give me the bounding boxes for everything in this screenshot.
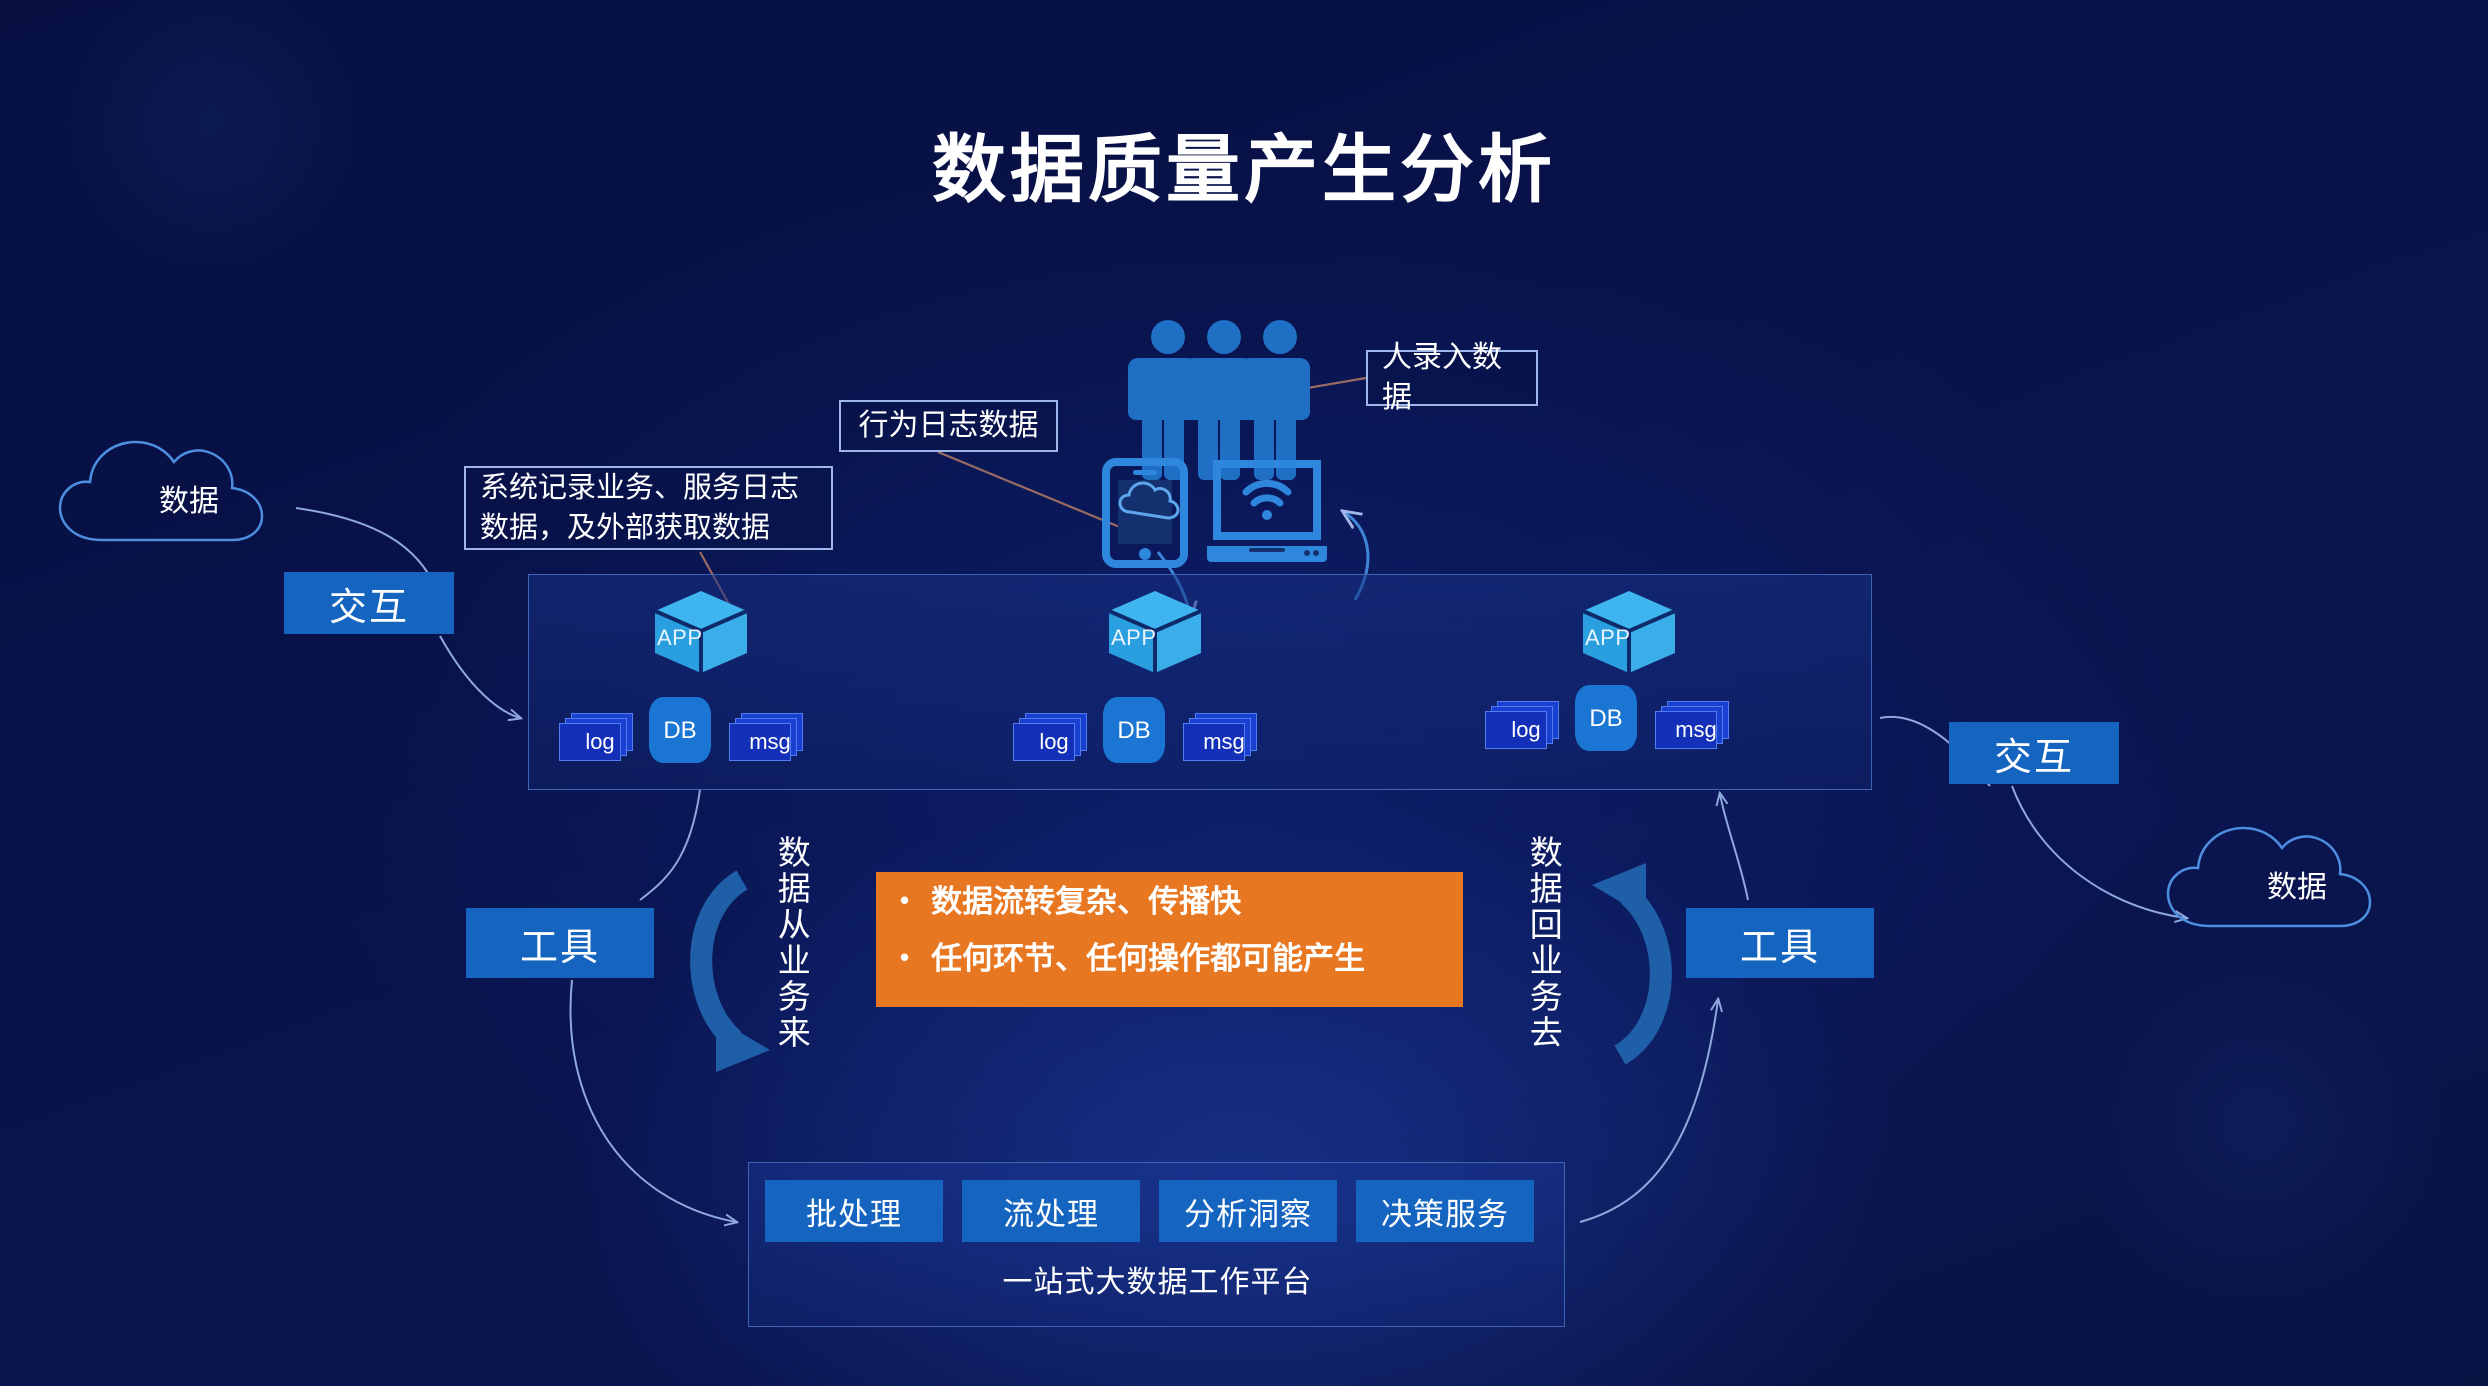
msg-label-3: msg: [1665, 717, 1727, 743]
flow-label-left: 数据从业务来: [770, 835, 812, 1125]
log-label-1: log: [569, 729, 631, 755]
badge-interact-left[interactable]: 交互: [284, 572, 454, 634]
systems-panel: APP log DB msg: [528, 574, 1872, 790]
log-label-2: log: [1023, 729, 1085, 755]
platform-card-decision[interactable]: 决策服务: [1356, 1180, 1534, 1242]
bullet-marker-1: •: [900, 886, 909, 915]
mobile-phone-cloud-icon: [1106, 462, 1184, 564]
page-title: 数据质量产生分析: [0, 133, 2488, 207]
cloud-label-left: 数据: [104, 478, 274, 518]
laptop-wifi-icon: [1207, 464, 1327, 562]
highlight-bullet-2: • 任何环节、任何操作都可能产生: [900, 943, 1463, 974]
platform-card-batch[interactable]: 批处理: [765, 1180, 943, 1242]
badge-interact-right[interactable]: 交互: [1949, 722, 2119, 784]
platform-card-analysis[interactable]: 分析洞察: [1159, 1180, 1337, 1242]
badge-tool-right[interactable]: 工具: [1686, 908, 1874, 978]
callout-system-log: 系统记录业务、服务日志 数据，及外部获取数据: [464, 466, 833, 550]
platform-card-list: 批处理 流处理 分析洞察 决策服务: [765, 1180, 1534, 1242]
badge-tool-left[interactable]: 工具: [466, 908, 654, 978]
store-row-3: log DB msg: [1483, 685, 1729, 751]
app-cube-icon-3: APP: [1579, 589, 1679, 675]
app-cube-label-1: APP: [657, 625, 705, 651]
highlight-bullet-text-2: 任何环节、任何操作都可能产生: [931, 943, 1365, 974]
app-cube-label-3: APP: [1585, 625, 1633, 651]
app-cube-icon-1: APP: [651, 589, 751, 675]
msg-label-1: msg: [739, 729, 801, 755]
platform-card-stream[interactable]: 流处理: [962, 1180, 1140, 1242]
cloud-label-right: 数据: [2212, 864, 2382, 904]
callout-behavior-log: 行为日志数据: [839, 400, 1058, 452]
highlight-bullet-text-1: 数据流转复杂、传播快: [931, 886, 1241, 917]
bullet-marker-2: •: [900, 943, 909, 972]
log-stack-2: log: [1011, 713, 1087, 763]
flow-label-right: 数据回业务去: [1522, 835, 1564, 1125]
db-cylinder-3: DB: [1575, 685, 1637, 751]
people-group-icon: [1128, 320, 1310, 480]
store-row-1: log DB msg: [557, 697, 803, 763]
platform-caption: 一站式大数据工作平台: [749, 1257, 1566, 1301]
msg-stack-3: msg: [1653, 701, 1729, 751]
msg-label-2: msg: [1193, 729, 1255, 755]
callout-person-entry: 人录入数据: [1366, 350, 1538, 406]
db-label-2: DB: [1103, 717, 1165, 745]
log-stack-1: log: [557, 713, 633, 763]
db-label-1: DB: [649, 717, 711, 745]
db-cylinder-1: DB: [649, 697, 711, 763]
highlight-bullet-1: • 数据流转复杂、传播快: [900, 886, 1463, 917]
db-cylinder-2: DB: [1103, 697, 1165, 763]
highlight-box: • 数据流转复杂、传播快 • 任何环节、任何操作都可能产生: [876, 872, 1463, 1007]
msg-stack-2: msg: [1181, 713, 1257, 763]
platform-panel: 批处理 流处理 分析洞察 决策服务 一站式大数据工作平台: [748, 1162, 1565, 1327]
store-row-2: log DB msg: [1011, 697, 1257, 763]
slide-canvas: 数据质量产生分析 行为日志数据 人录入数据 系统记录业务、服务日志 数据，及外部…: [0, 0, 2488, 1386]
app-cube-icon-2: APP: [1105, 589, 1205, 675]
log-label-3: log: [1495, 717, 1557, 743]
db-label-3: DB: [1575, 705, 1637, 733]
app-cube-label-2: APP: [1111, 625, 1159, 651]
log-stack-3: log: [1483, 701, 1559, 751]
msg-stack-1: msg: [727, 713, 803, 763]
